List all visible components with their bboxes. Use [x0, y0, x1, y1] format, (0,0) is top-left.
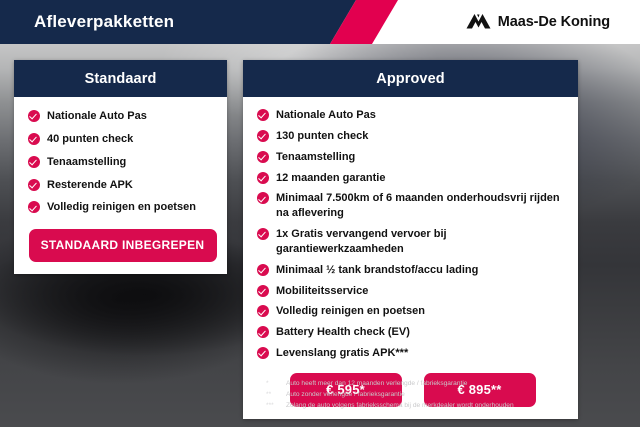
list-item: 40 punten check [28, 132, 217, 147]
list-item: Tenaamstelling [28, 155, 217, 170]
feature-label: Nationale Auto Pas [276, 108, 376, 123]
list-item: 12 maanden garantie [257, 171, 568, 186]
feature-label: 130 punten check [276, 129, 368, 144]
feature-label: Tenaamstelling [276, 150, 355, 165]
check-circle-icon [28, 156, 40, 168]
card-approved: Approved Nationale Auto Pas 130 punten c… [243, 60, 578, 419]
footnote-marker: *** [266, 401, 286, 412]
standaard-feature-list: Nationale Auto Pas 40 punten check Tenaa… [28, 109, 217, 215]
feature-label: Volledig reinigen en poetsen [47, 200, 196, 215]
check-circle-icon [257, 192, 269, 204]
check-circle-icon [257, 264, 269, 276]
list-item: 130 punten check [257, 129, 568, 144]
list-item: Mobiliteitsservice [257, 284, 568, 299]
footnote-marker: ** [266, 390, 286, 401]
feature-label: 12 maanden garantie [276, 171, 385, 186]
card-standaard-title: Standaard [14, 60, 227, 97]
list-item: Minimaal 7.500km of 6 maanden onderhouds… [257, 191, 568, 221]
check-circle-icon [257, 326, 269, 338]
feature-label: Volledig reinigen en poetsen [276, 304, 425, 319]
slide-canvas: Afleverpakketten Maas-De Koning Standaar… [0, 0, 640, 427]
card-approved-title: Approved [243, 60, 578, 97]
feature-label: Battery Health check (EV) [276, 325, 410, 340]
check-circle-icon [257, 109, 269, 121]
check-circle-icon [28, 201, 40, 213]
card-standaard: Standaard Nationale Auto Pas 40 punten c… [14, 60, 227, 274]
feature-label: Nationale Auto Pas [47, 109, 147, 124]
list-item: Battery Health check (EV) [257, 325, 568, 340]
feature-label: Tenaamstelling [47, 155, 126, 170]
brand-lockup: Maas-De Koning [466, 0, 610, 44]
header-bar: Afleverpakketten Maas-De Koning [0, 0, 640, 44]
brand-name: Maas-De Koning [498, 14, 610, 30]
card-standaard-body: Nationale Auto Pas 40 punten check Tenaa… [14, 97, 227, 274]
feature-label: Mobiliteitsservice [276, 284, 368, 299]
feature-label: 40 punten check [47, 132, 133, 147]
standaard-inbegrepen-button[interactable]: STANDAARD INBEGREPEN [29, 229, 217, 262]
check-circle-icon [257, 151, 269, 163]
footnotes-block: * Auto heeft meer dan 12 maanden verleng… [266, 379, 616, 412]
list-item: Minimaal ½ tank brandstof/accu lading [257, 263, 568, 278]
approved-feature-list: Nationale Auto Pas 130 punten check Tena… [257, 108, 568, 361]
list-item: Volledig reinigen en poetsen [257, 304, 568, 319]
footnote-row-double-asterisk: ** Auto zonder verlengde / fabrieksgaran… [266, 390, 616, 401]
list-item: Tenaamstelling [257, 150, 568, 165]
footnote-text: Auto heeft meer dan 12 maanden verlengde… [286, 379, 616, 390]
feature-label: 1x Gratis vervangend vervoer bij garanti… [276, 227, 568, 257]
check-circle-icon [257, 285, 269, 297]
list-item: Nationale Auto Pas [28, 109, 217, 124]
standaard-button-row: STANDAARD INBEGREPEN [28, 229, 217, 262]
list-item: Levenslang gratis APK*** [257, 346, 568, 361]
check-circle-icon [257, 347, 269, 359]
footnote-marker: * [266, 379, 286, 390]
card-approved-body: Nationale Auto Pas 130 punten check Tena… [243, 97, 578, 419]
check-circle-icon [28, 179, 40, 191]
feature-label: Resterende APK [47, 178, 133, 193]
feature-label: Minimaal ½ tank brandstof/accu lading [276, 263, 478, 278]
footnote-row-triple-asterisk: *** Zolang de auto volgens fabrieksschem… [266, 401, 616, 412]
check-circle-icon [28, 133, 40, 145]
list-item: Volledig reinigen en poetsen [28, 200, 217, 215]
feature-label: Levenslang gratis APK*** [276, 346, 408, 361]
check-circle-icon [257, 305, 269, 317]
check-circle-icon [257, 228, 269, 240]
footnote-text: Auto zonder verlengde / fabrieksgarantie [286, 390, 616, 401]
check-circle-icon [257, 172, 269, 184]
maas-de-koning-m-logo-icon [466, 12, 491, 32]
feature-label: Minimaal 7.500km of 6 maanden onderhouds… [276, 191, 568, 221]
list-item: Resterende APK [28, 178, 217, 193]
list-item: Nationale Auto Pas [257, 108, 568, 123]
list-item: 1x Gratis vervangend vervoer bij garanti… [257, 227, 568, 257]
footnote-row-single-asterisk: * Auto heeft meer dan 12 maanden verleng… [266, 379, 616, 390]
footnote-text: Zolang de auto volgens fabrieksschema bi… [286, 401, 616, 412]
check-circle-icon [257, 130, 269, 142]
page-title: Afleverpakketten [34, 0, 174, 44]
check-circle-icon [28, 110, 40, 122]
